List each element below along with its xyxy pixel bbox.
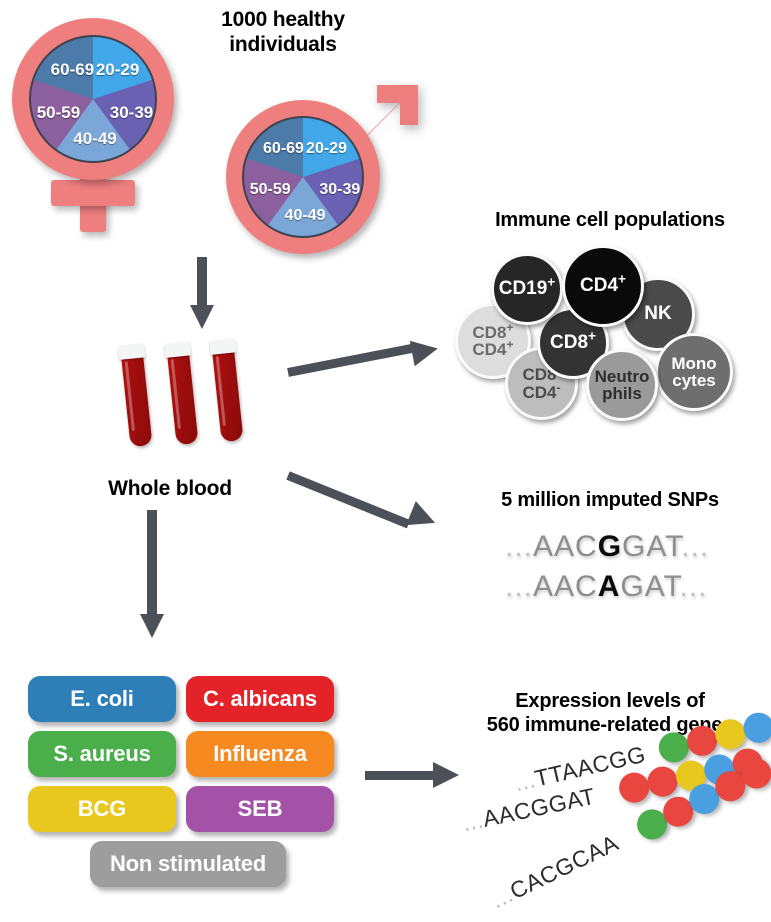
cell-marker-sign: -: [556, 380, 560, 394]
age-group-label-50-59: 50-59: [250, 181, 291, 199]
snp-after: GAT: [622, 530, 681, 563]
stimulus-pill-e-coli[interactable]: E. coli: [28, 676, 176, 722]
arrow-cohort-to-blood: [190, 257, 214, 329]
immune-cell-cd4-positive[interactable]: CD4+: [562, 245, 644, 327]
expression-bead: [616, 770, 652, 806]
immune-cells-heading: Immune cell populations: [455, 209, 765, 233]
age-group-label-50-59: 50-59: [37, 103, 80, 123]
cell-marker-sign: +: [588, 329, 596, 344]
stimuli-group: E. coliC. albicansS. aureusInfluenzaBCGS…: [28, 676, 348, 891]
stimulus-pill-s-aureus[interactable]: S. aureus: [28, 731, 176, 777]
snp-prefix: ...: [505, 530, 533, 563]
immune-cell-cd19-positive[interactable]: CD19+: [491, 253, 563, 325]
cell-marker-sign: +: [618, 272, 626, 287]
stimulus-pill-c-albicans[interactable]: C. albicans: [186, 676, 334, 722]
age-group-label-30-39: 30-39: [110, 103, 153, 123]
age-group-label-40-49: 40-49: [73, 129, 116, 149]
cohort-heading-line2: individuals: [178, 33, 388, 58]
female-age-pie: 20-2930-3940-4950-5960-69: [29, 35, 157, 163]
arrow-blood-to-snps: [288, 455, 463, 555]
male-age-pie: 20-2930-3940-4950-5960-69: [242, 116, 364, 238]
snp-before: AAC: [533, 530, 598, 563]
male-sex-symbol: 20-2930-3940-4950-5960-69: [206, 72, 422, 262]
snp-suffix: ...: [681, 530, 709, 563]
cell-marker-sign: +: [506, 337, 513, 351]
snp-suffix: ...: [680, 570, 708, 603]
age-group-label-20-29: 20-29: [96, 60, 139, 80]
female-sex-symbol: 20-2930-3940-4950-5960-69: [6, 12, 196, 237]
immune-cell-label: NK: [644, 304, 671, 323]
age-group-label-40-49: 40-49: [285, 207, 326, 225]
age-group-label-60-69: 60-69: [51, 60, 94, 80]
age-group-label-60-69: 60-69: [263, 140, 304, 158]
stimulus-pill-non-stimulated[interactable]: Non stimulated: [90, 841, 286, 887]
arrow-shaft: [286, 471, 410, 528]
whole-blood-label: Whole blood: [80, 477, 260, 502]
arrow-head-icon: [140, 614, 164, 638]
snp-before: AAC: [533, 570, 598, 603]
arrow-blood-to-stimuli: [139, 510, 165, 640]
age-group-label-30-39: 30-39: [319, 181, 360, 199]
stimulus-label: BCG: [78, 796, 126, 822]
cohort-heading-line1: 1000 healthy: [178, 8, 388, 33]
snp-after: GAT: [620, 570, 679, 603]
snps-heading: 5 million imputed SNPs: [455, 489, 765, 513]
stimulus-label: Influenza: [213, 741, 307, 767]
figure-canvas: 1000 healthy individuals 20-2930-3940-49…: [0, 0, 771, 922]
arrow-shaft: [287, 343, 416, 377]
blood-tube-rim: [209, 338, 236, 355]
immune-cell-label: CD8+: [550, 333, 596, 352]
expression-strands-group: ...TTAACGG...AACGGAT...CACGCAA: [455, 745, 771, 910]
expression-bead: [741, 710, 771, 746]
arrow-shaft: [197, 257, 207, 309]
strand-lead-dots: ...: [460, 806, 486, 836]
expression-heading-line1: Expression levels of: [455, 690, 765, 714]
stimulus-label: S. aureus: [53, 741, 150, 767]
immune-cell-monocytes[interactable]: Monocytes: [655, 333, 733, 411]
snp-sequence-row: ...AACAGAT...: [505, 570, 708, 604]
cohort-heading: 1000 healthy individuals: [178, 8, 388, 58]
age-group-label-20-29: 20-29: [306, 140, 347, 158]
snp-prefix: ...: [505, 570, 533, 603]
arrow-blood-to-immune-cells: [288, 330, 458, 390]
immune-cell-label: Monocytes: [671, 355, 716, 390]
snp-variant-allele: G: [598, 530, 622, 563]
snp-sequence-row: ...AACGGAT...: [505, 530, 709, 564]
stimulus-pill-influenza[interactable]: Influenza: [186, 731, 334, 777]
snp-variant-allele: A: [598, 570, 621, 603]
arrow-head-icon: [190, 305, 214, 329]
arrow-shaft: [365, 771, 437, 780]
immune-cell-neutrophils[interactable]: Neutrophils: [586, 349, 658, 421]
immune-cell-label: CD4+: [580, 276, 626, 295]
stimulus-label: Non stimulated: [110, 851, 266, 877]
blood-tube-rim: [118, 343, 145, 360]
immune-cell-label: CD19+: [499, 279, 556, 298]
female-symbol-crossbar: [51, 180, 135, 206]
stimulus-label: E. coli: [70, 686, 133, 712]
immune-cell-label: Neutrophils: [595, 368, 650, 403]
stimulus-pill-seb[interactable]: SEB: [186, 786, 334, 832]
stimulus-label: C. albicans: [203, 686, 317, 712]
blood-tube-rim: [164, 341, 191, 358]
immune-cells-cluster: CD19+CD4+CD8+CD4+CD8+NKCD8-CD4-Neutrophi…: [455, 245, 765, 420]
immune-cell-label: CD8+CD4+: [472, 324, 513, 359]
stimulus-pill-bcg[interactable]: BCG: [28, 786, 176, 832]
strand-sequence: ...CACGCAA: [487, 829, 623, 914]
stimulus-label: SEB: [238, 796, 283, 822]
arrow-shaft: [147, 510, 157, 618]
cell-marker-sign: +: [547, 275, 555, 290]
strand-lead-dots: ...: [487, 881, 517, 913]
arrow-head-icon: [406, 501, 440, 535]
arrow-head-icon: [410, 336, 440, 366]
